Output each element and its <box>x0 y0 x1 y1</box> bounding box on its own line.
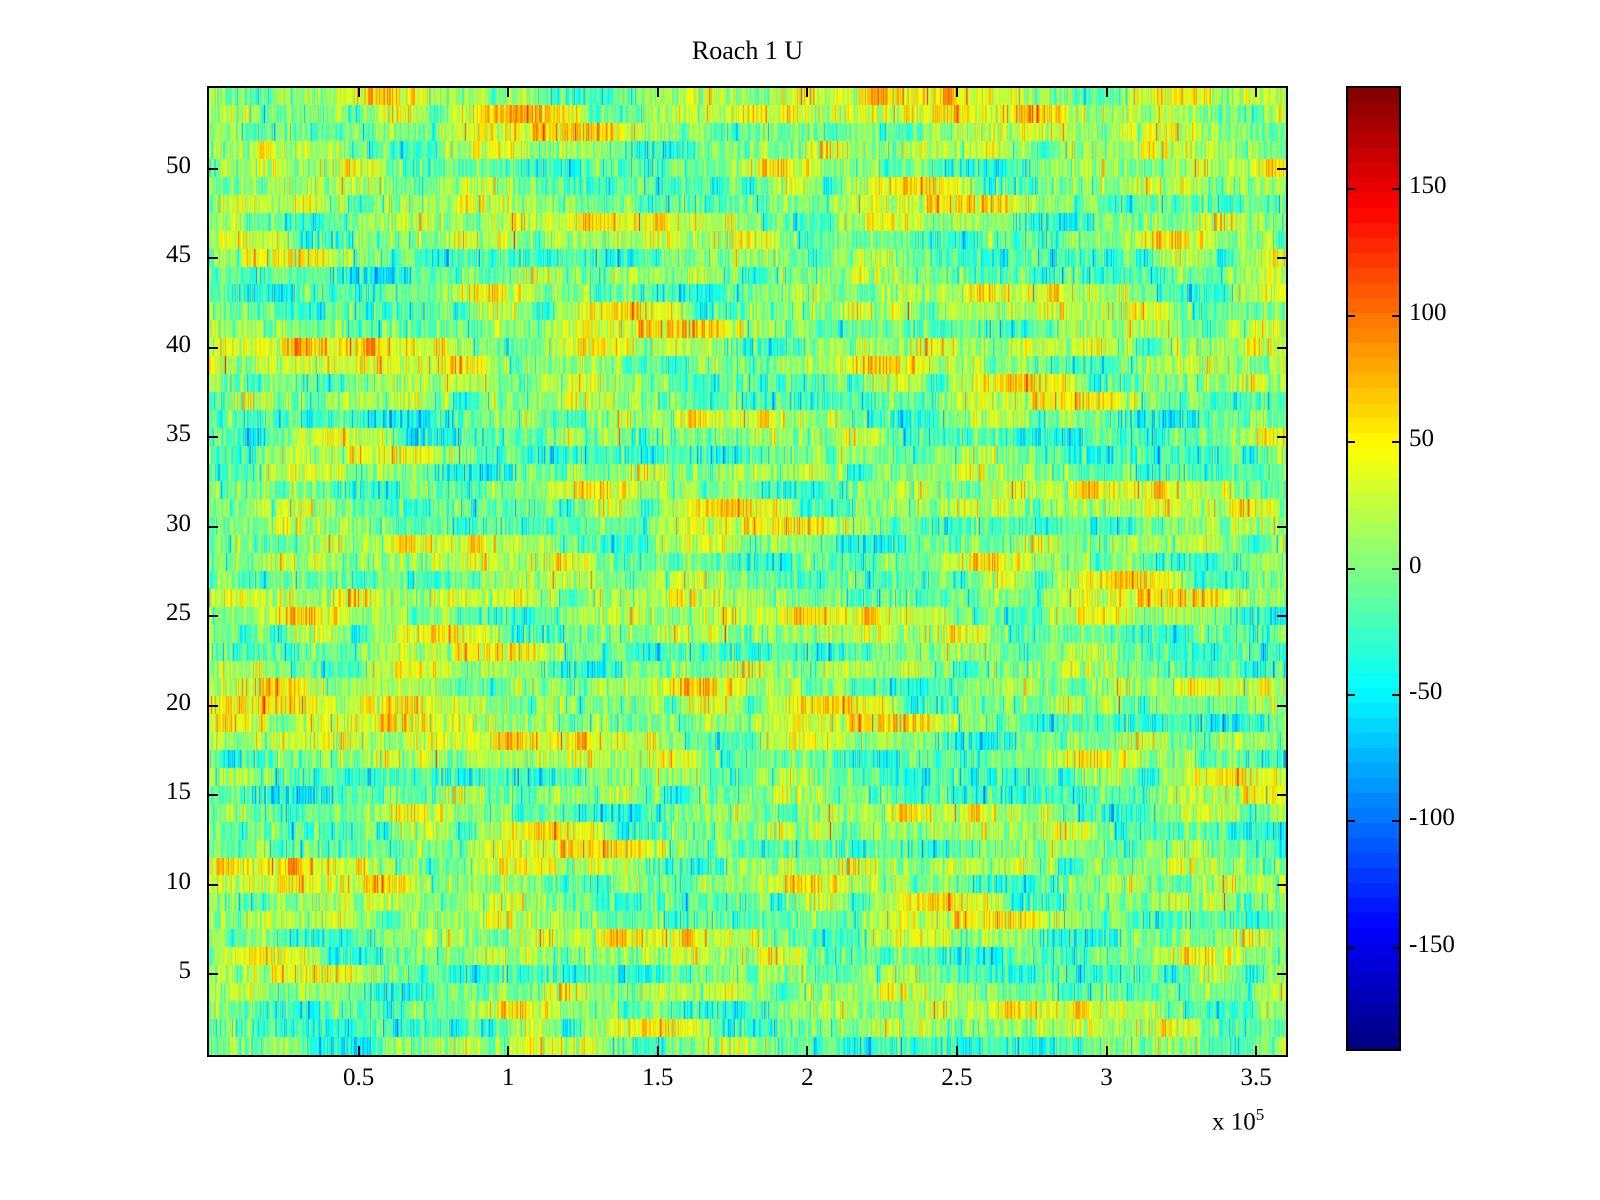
x-tick-mark-top <box>1255 86 1257 97</box>
y-tick-mark-right <box>1277 347 1288 349</box>
y-tick-label: 45 <box>166 241 191 269</box>
x-tick-mark <box>1106 1046 1108 1057</box>
x-tick-mark-top <box>358 86 360 97</box>
y-tick-mark <box>207 884 218 886</box>
colorbar-tick-label: 50 <box>1409 425 1434 453</box>
colorbar-tick-mark <box>1346 568 1355 570</box>
x-tick-mark-top <box>1106 86 1108 97</box>
colorbar-tick-mark <box>1346 315 1355 317</box>
y-tick-mark-right <box>1277 526 1288 528</box>
x-tick-mark-top <box>956 86 958 97</box>
y-tick-mark <box>207 436 218 438</box>
colorbar-tick-mark-right <box>1392 568 1401 570</box>
colorbar-tick-mark-right <box>1392 820 1401 822</box>
x-tick-mark <box>956 1046 958 1057</box>
x-exponent-power: 5 <box>1256 1105 1265 1124</box>
colorbar-tick-label: -50 <box>1409 678 1442 706</box>
figure-canvas: Roach 1 U 51015202530354045500.511.522.5… <box>0 0 1600 1200</box>
colorbar-tick-label: -150 <box>1409 931 1455 959</box>
y-tick-mark-right <box>1277 168 1288 170</box>
colorbar-tick-mark-right <box>1392 441 1401 443</box>
y-tick-label: 25 <box>166 599 191 627</box>
x-tick-mark-top <box>657 86 659 97</box>
colorbar-tick-mark-right <box>1392 188 1401 190</box>
y-tick-mark <box>207 705 218 707</box>
x-exponent-base: x 10 <box>1212 1108 1256 1135</box>
y-tick-label: 10 <box>166 868 191 896</box>
y-tick-mark <box>207 615 218 617</box>
y-tick-label: 35 <box>166 420 191 448</box>
colorbar-tick-mark <box>1346 947 1355 949</box>
x-tick-mark-top <box>507 86 509 97</box>
y-tick-mark <box>207 794 218 796</box>
colorbar-tick-mark <box>1346 820 1355 822</box>
x-tick-label: 3.5 <box>1240 1064 1271 1092</box>
x-tick-label: 0.5 <box>343 1064 374 1092</box>
y-tick-mark <box>207 347 218 349</box>
x-tick-mark <box>657 1046 659 1057</box>
y-tick-mark-right <box>1277 436 1288 438</box>
x-tick-mark <box>507 1046 509 1057</box>
y-tick-label: 20 <box>166 689 191 717</box>
x-tick-mark-top <box>806 86 808 97</box>
heatmap-axes[interactable] <box>207 86 1288 1057</box>
y-tick-mark-right <box>1277 705 1288 707</box>
page-title: Roach 1 U <box>207 36 1288 66</box>
colorbar-tick-mark-right <box>1392 315 1401 317</box>
y-tick-mark <box>207 973 218 975</box>
y-tick-mark-right <box>1277 973 1288 975</box>
y-tick-label: 5 <box>179 957 192 985</box>
x-tick-mark <box>358 1046 360 1057</box>
colorbar-tick-label: 100 <box>1409 299 1447 327</box>
heatmap-image[interactable] <box>209 88 1286 1055</box>
x-tick-label: 3 <box>1100 1064 1113 1092</box>
colorbar-tick-mark <box>1346 694 1355 696</box>
x-tick-label: 1.5 <box>642 1064 673 1092</box>
y-tick-mark-right <box>1277 257 1288 259</box>
colorbar-tick-label: 150 <box>1409 172 1447 200</box>
colorbar-tick-mark-right <box>1392 694 1401 696</box>
colorbar-tick-mark <box>1346 188 1355 190</box>
y-tick-label: 40 <box>166 331 191 359</box>
y-tick-label: 30 <box>166 510 191 538</box>
y-tick-label: 15 <box>166 778 191 806</box>
colorbar-tick-mark-right <box>1392 947 1401 949</box>
y-tick-mark <box>207 257 218 259</box>
y-tick-label: 50 <box>166 152 191 180</box>
y-tick-mark <box>207 526 218 528</box>
x-tick-label: 1 <box>502 1064 515 1092</box>
x-axis-exponent-label: x 105 <box>1212 1105 1264 1136</box>
colorbar-tick-label: -100 <box>1409 804 1455 832</box>
x-tick-label: 2.5 <box>941 1064 972 1092</box>
y-tick-mark <box>207 168 218 170</box>
x-tick-label: 2 <box>801 1064 814 1092</box>
x-tick-mark <box>1255 1046 1257 1057</box>
y-tick-mark-right <box>1277 884 1288 886</box>
colorbar-tick-label: 0 <box>1409 552 1422 580</box>
y-tick-mark-right <box>1277 794 1288 796</box>
colorbar-tick-mark <box>1346 441 1355 443</box>
x-tick-mark <box>806 1046 808 1057</box>
y-tick-mark-right <box>1277 615 1288 617</box>
